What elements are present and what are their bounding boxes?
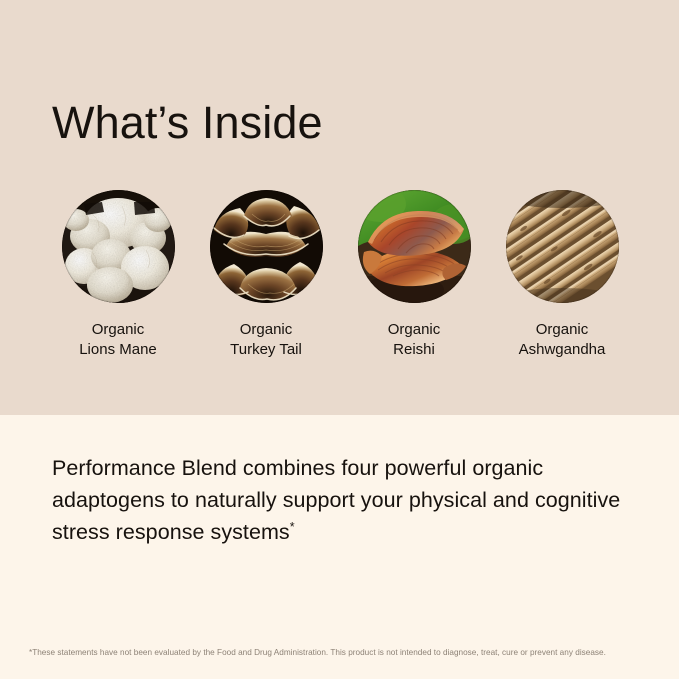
ingredient-item-ashwagandha: Organic Ashwgandha bbox=[496, 190, 628, 360]
ingredient-label: Organic Lions Mane bbox=[79, 320, 157, 360]
page-title: What’s Inside bbox=[52, 97, 323, 149]
ashwagandha-photo bbox=[506, 190, 619, 303]
turkey-tail-photo bbox=[210, 190, 323, 303]
ingredient-label: Organic Ashwgandha bbox=[519, 320, 606, 360]
lions-mane-photo bbox=[62, 190, 175, 303]
ingredient-label: Organic Reishi bbox=[388, 320, 441, 360]
ingredient-list: Organic Lions Mane bbox=[52, 190, 628, 360]
description-asterisk: * bbox=[290, 520, 295, 534]
product-info-panel: What’s Inside bbox=[0, 0, 679, 679]
ingredient-item-lions-mane: Organic Lions Mane bbox=[52, 190, 184, 360]
ingredient-item-reishi: Organic Reishi bbox=[348, 190, 480, 360]
ingredient-item-turkey-tail: Organic Turkey Tail bbox=[200, 190, 332, 360]
description-text: Performance Blend combines four powerful… bbox=[52, 456, 620, 544]
reishi-photo bbox=[358, 190, 471, 303]
fda-disclaimer: *These statements have not been evaluate… bbox=[29, 647, 659, 658]
description-paragraph: Performance Blend combines four powerful… bbox=[52, 452, 632, 548]
ingredient-label: Organic Turkey Tail bbox=[230, 320, 302, 360]
